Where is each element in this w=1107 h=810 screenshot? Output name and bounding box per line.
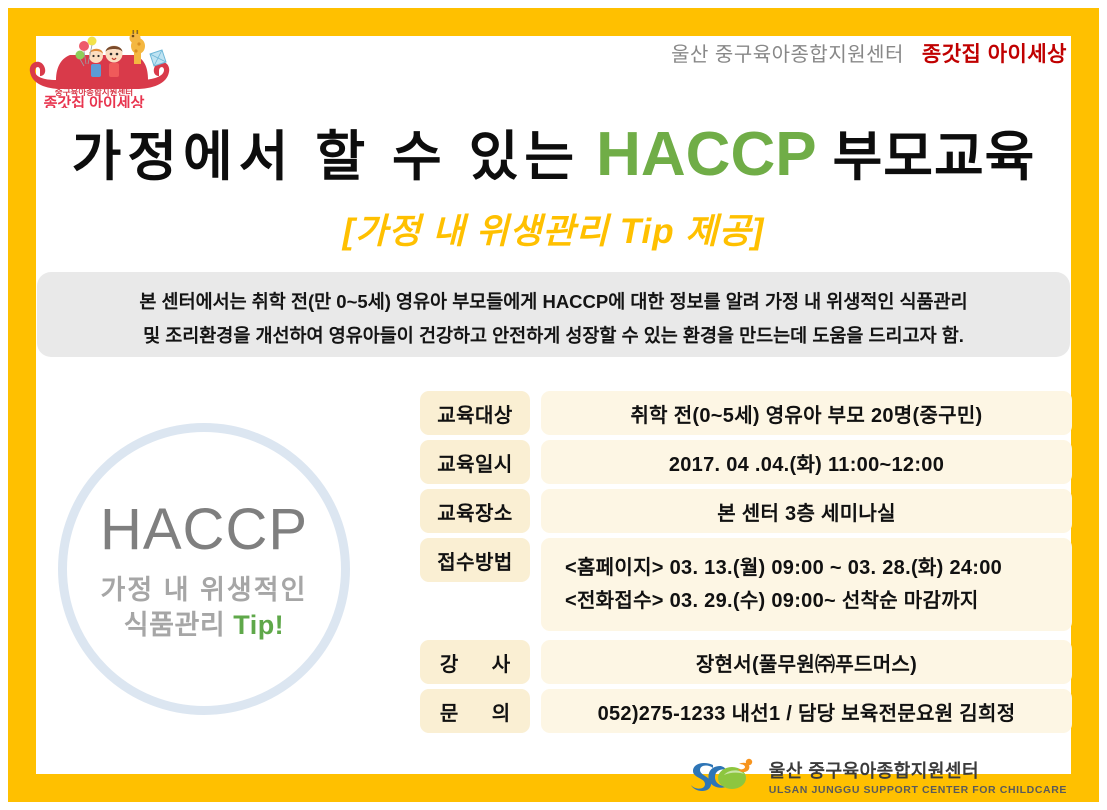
circle-sub2-text: 식품관리 bbox=[124, 610, 225, 640]
row-value: <홈페이지> 03. 13.(월) 09:00 ~ 03. 28.(화) 24:… bbox=[541, 538, 1072, 631]
row-value: 취학 전(0~5세) 영유아 부모 20명(중구민) bbox=[541, 391, 1072, 435]
center-logo: 중구육아종합지원센터 종갓집 아이세상 bbox=[22, 22, 182, 108]
row-value-line: 취학 전(0~5세) 영유아 부모 20명(중구민) bbox=[630, 399, 982, 428]
circle-sub2-tip: Tip! bbox=[233, 610, 284, 640]
row-value-line: 052)275-1233 내선1 / 담당 보육전문요원 김희정 bbox=[598, 697, 1016, 726]
title-part1: 가정에서 할 수 있는 bbox=[72, 127, 580, 187]
header-org-line: 울산 중구육아종합지원센터 종갓집 아이세상 bbox=[671, 38, 1067, 68]
row-value: 2017. 04 .04.(화) 11:00~12:00 bbox=[541, 440, 1072, 484]
table-row: 강 사 장현서(풀무원㈜푸드머스) bbox=[420, 640, 1072, 684]
row-value: 052)275-1233 내선1 / 담당 보육전문요원 김희정 bbox=[541, 689, 1072, 733]
row-value: 장현서(풀무원㈜푸드머스) bbox=[541, 640, 1072, 684]
circle-content: HACCP 가정 내 위생적인 식품관리 Tip! bbox=[58, 423, 350, 715]
row-value: 본 센터 3층 세미나실 bbox=[541, 489, 1072, 533]
table-row: 교육일시 2017. 04 .04.(화) 11:00~12:00 bbox=[420, 440, 1072, 484]
page-title: 가정에서 할 수 있는 HACCP 부모교육 bbox=[0, 112, 1107, 191]
row-label: 교육일시 bbox=[420, 440, 530, 484]
row-label: 문 의 bbox=[420, 689, 530, 733]
table-row: 접수방법 <홈페이지> 03. 13.(월) 09:00 ~ 03. 28.(화… bbox=[420, 538, 1072, 631]
table-row: 교육대상 취학 전(0~5세) 영유아 부모 20명(중구민) bbox=[420, 391, 1072, 435]
footer-en-name: ULSAN JUNGGU SUPPORT CENTER FOR CHILDCAR… bbox=[769, 784, 1067, 796]
table-row: 교육장소 본 센터 3층 세미나실 bbox=[420, 489, 1072, 533]
circle-subtitle-1: 가정 내 위생적인 bbox=[101, 573, 308, 608]
title-highlight: HACCP bbox=[596, 120, 816, 189]
row-value-line: 본 센터 3층 세미나실 bbox=[717, 497, 896, 526]
info-table: 교육대상 취학 전(0~5세) 영유아 부모 20명(중구민) 교육일시 201… bbox=[420, 391, 1072, 738]
sc-childcare-logo-mark bbox=[687, 758, 759, 796]
footer-kr-name: 울산 중구육아종합지원센터 bbox=[769, 757, 1067, 783]
page-subtitle: [가정 내 위생관리 Tip 제공] bbox=[0, 203, 1107, 254]
description-line-1: 본 센터에서는 취학 전(만 0~5세) 영유아 부모들에게 HACCP에 대한… bbox=[55, 285, 1052, 319]
svg-text:종갓집 아이세상: 종갓집 아이세상 bbox=[44, 94, 145, 108]
footer-logo: 울산 중구육아종합지원센터 ULSAN JUNGGU SUPPORT CENTE… bbox=[687, 757, 1067, 796]
circle-heading: HACCP bbox=[100, 500, 308, 561]
row-label: 접수방법 bbox=[420, 538, 530, 582]
poster-root: 중구육아종합지원센터 종갓집 아이세상 울산 중구육아종합지원센터 종갓집 아이… bbox=[0, 0, 1107, 810]
header-org-red: 종갓집 아이세상 bbox=[922, 38, 1067, 68]
row-value-line: <전화접수> 03. 29.(수) 09:00~ 선착순 마감까지 bbox=[565, 589, 979, 614]
row-value-line: 장현서(풀무원㈜푸드머스) bbox=[696, 648, 917, 677]
row-label: 교육장소 bbox=[420, 489, 530, 533]
table-row: 문 의 052)275-1233 내선1 / 담당 보육전문요원 김희정 bbox=[420, 689, 1072, 733]
description-line-2: 및 조리환경을 개선하여 영유아들이 건강하고 안전하게 성장할 수 있는 환경… bbox=[55, 319, 1052, 353]
row-label: 강 사 bbox=[420, 640, 530, 684]
row-label: 교육대상 bbox=[420, 391, 530, 435]
footer-text: 울산 중구육아종합지원센터 ULSAN JUNGGU SUPPORT CENTE… bbox=[769, 757, 1067, 796]
haccp-circle-graphic: HACCP 가정 내 위생적인 식품관리 Tip! bbox=[58, 423, 350, 715]
circle-subtitle-2: 식품관리 Tip! bbox=[124, 608, 284, 643]
row-value-line: <홈페이지> 03. 13.(월) 09:00 ~ 03. 28.(화) 24:… bbox=[565, 556, 1002, 581]
description-box: 본 센터에서는 취학 전(만 0~5세) 영유아 부모들에게 HACCP에 대한… bbox=[37, 272, 1070, 357]
header-org-gray: 울산 중구육아종합지원센터 bbox=[671, 38, 904, 67]
title-part2: 부모교육 bbox=[833, 127, 1036, 187]
row-value-line: 2017. 04 .04.(화) 11:00~12:00 bbox=[669, 448, 944, 477]
